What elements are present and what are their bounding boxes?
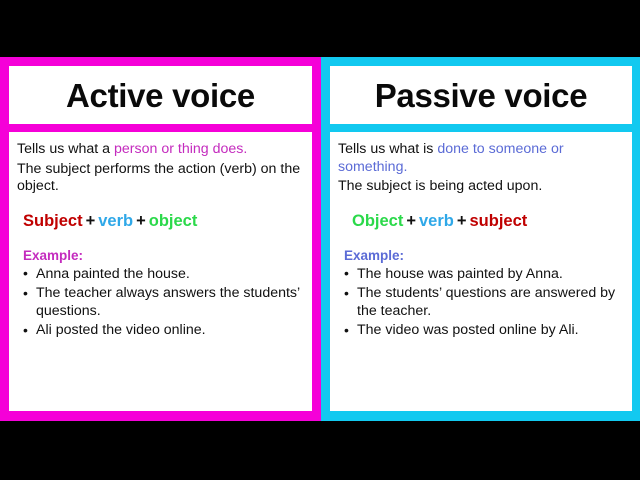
definition-active: Tells us what a person or thing does.	[17, 141, 304, 159]
panel-title-passive: Passive voice	[375, 79, 588, 112]
title-card-active: Active voice	[9, 66, 312, 124]
list-item: Ali posted the video online.	[23, 322, 304, 340]
formula-term-object: object	[149, 212, 198, 230]
list-item: The house was painted by Anna.	[344, 266, 624, 284]
formula-passive: Object+verb+subject	[338, 212, 624, 231]
formula-term-object-passive: Object	[352, 212, 403, 230]
formula-term-verb-passive: verb	[419, 212, 454, 230]
comparison-panels: Active voice Tells us what a person or t…	[0, 57, 640, 421]
definition-highlight-active: person or thing does.	[114, 141, 247, 157]
list-item: The teacher always answers the students’…	[23, 285, 304, 320]
panel-title-active: Active voice	[66, 79, 255, 112]
formula-plus-two-active: +	[133, 212, 149, 230]
definition-detail-active: The subject performs the action (verb) o…	[17, 161, 304, 196]
definition-prefix-passive: Tells us what is	[338, 141, 437, 157]
example-label-passive: Example:	[344, 248, 624, 263]
panel-active-voice: Active voice Tells us what a person or t…	[0, 57, 321, 421]
body-card-active: Tells us what a person or thing does. Th…	[9, 132, 312, 411]
formula-term-subject-passive: subject	[470, 212, 528, 230]
example-label-active: Example:	[23, 248, 304, 263]
definition-detail-passive: The subject is being acted upon.	[338, 178, 624, 196]
example-list-passive: The house was painted by Anna. The stude…	[338, 266, 624, 340]
formula-plus-one-passive: +	[403, 212, 419, 230]
list-item: Anna painted the house.	[23, 266, 304, 284]
example-list-active: Anna painted the house. The teacher alwa…	[17, 266, 304, 340]
letterbox-bar-top	[0, 0, 640, 57]
list-item: The students’ questions are answered by …	[344, 285, 624, 320]
definition-prefix-active: Tells us what a	[17, 141, 114, 157]
slide-canvas: Active voice Tells us what a person or t…	[0, 0, 640, 480]
formula-plus-two-passive: +	[454, 212, 470, 230]
letterbox-bar-bottom	[0, 421, 640, 480]
formula-active: Subject+verb+object	[17, 212, 304, 231]
panel-passive-voice: Passive voice Tells us what is done to s…	[321, 57, 640, 421]
formula-term-verb: verb	[98, 212, 133, 230]
body-card-passive: Tells us what is done to someone or some…	[330, 132, 632, 411]
formula-plus-one-active: +	[83, 212, 99, 230]
title-card-passive: Passive voice	[330, 66, 632, 124]
list-item: The video was posted online by Ali.	[344, 322, 624, 340]
formula-term-subject: Subject	[23, 212, 83, 230]
definition-passive: Tells us what is done to someone or some…	[338, 141, 624, 176]
